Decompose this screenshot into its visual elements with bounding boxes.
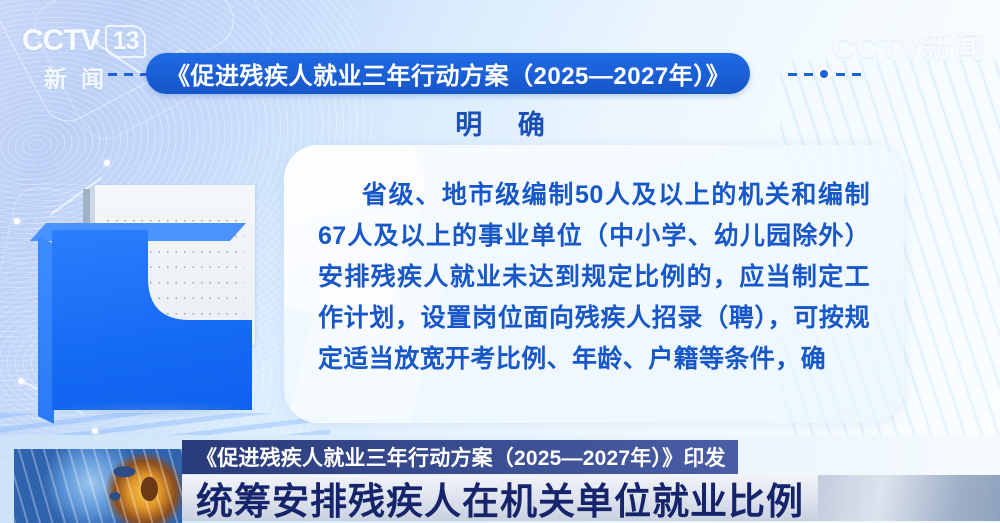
title-dot-icon [816, 66, 832, 82]
page-title: 《促进残疾人就业三年行动方案（2025—2027年）》 [146, 53, 750, 94]
broadcast-screen: CCTV新闻 CCTV 13 新闻 《促进残疾人就业三年行动方案（2025—20… [0, 0, 1000, 523]
node-dot-icon [18, 378, 24, 384]
lower-third-subheadline: 《促进残疾人就业三年行动方案（2025—2027年）》印发 [182, 440, 738, 474]
lower-third-headline: 统筹安排残疾人在机关单位就业比例 [182, 475, 818, 521]
node-dot-icon [14, 218, 20, 224]
channel-number: 13 [105, 25, 147, 58]
channel-watermark: CCTV新闻 [832, 22, 986, 66]
cctv-wordmark: CCTV [22, 24, 100, 58]
section-subtitle: 明 确 [0, 103, 1000, 142]
globe-landmass [101, 462, 178, 511]
document-folder-illustration [52, 185, 267, 415]
folder-side-face [38, 236, 54, 423]
node-dot-icon [104, 160, 110, 166]
globe-icon [14, 449, 182, 523]
cctv-logo-row: CCTV 13 [22, 24, 182, 58]
lower-third-tail [818, 475, 1000, 521]
content-panel: 省级、地市级编制50人及以上的机关和编制67人及以上的事业单位（中小学、幼儿园除… [284, 145, 904, 423]
title-dash-right [788, 73, 814, 76]
panel-body-text: 省级、地市级编制50人及以上的机关和编制67人及以上的事业单位（中小学、幼儿园除… [284, 145, 904, 380]
title-dash-right-2 [836, 73, 862, 76]
lower-third-banner: 《促进残疾人就业三年行动方案（2025—2027年）》印发 统筹安排残疾人在机关… [0, 435, 1000, 523]
node-dot-icon [92, 428, 98, 434]
folder-shadow [46, 401, 261, 419]
